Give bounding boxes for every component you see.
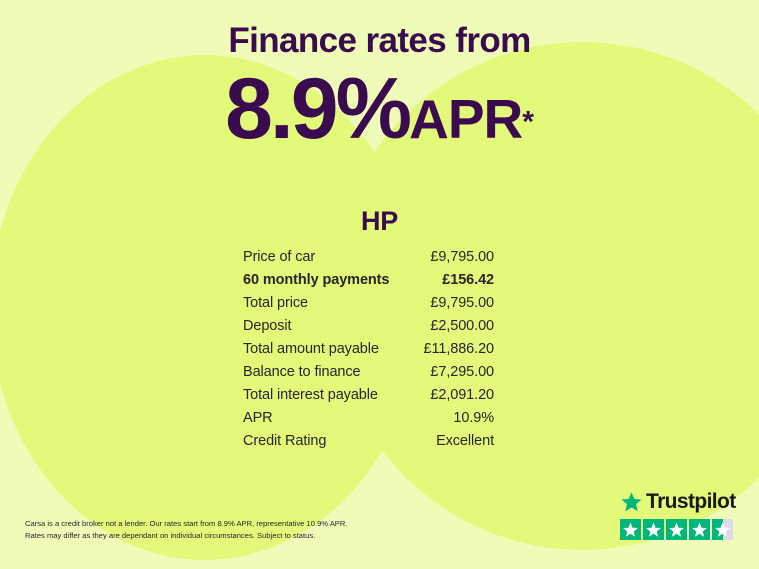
row-value: £7,295.00 [430,364,494,380]
trustpilot-star-rating [620,519,738,540]
row-label: Credit Rating [243,433,326,449]
row-value: £156.42 [442,272,494,288]
table-row: Credit RatingExcellent [243,433,494,456]
disclaimer-line-1: Carsa is a credit broker not a lender. O… [25,518,425,530]
row-label: Price of car [243,249,315,265]
row-value: £2,500.00 [430,318,494,334]
headline-rate: 8.9%APR* [0,66,759,152]
row-value: £11,886.20 [424,341,495,357]
row-value: £9,795.00 [430,249,494,265]
trustpilot-star-icon [620,491,643,513]
row-label: APR [243,410,273,426]
promo-banner: Finance rates from 8.9%APR* HP Price of … [0,0,759,569]
rating-star-5-half [712,519,733,540]
row-value: £2,091.20 [430,387,494,403]
row-label: Balance to finance [243,364,361,380]
row-value: £9,795.00 [430,295,494,311]
table-row: 60 monthly payments£156.42 [243,272,494,295]
disclaimer-line-2: Rates may differ as they are dependant o… [25,530,425,542]
finance-plan-title: HP [0,206,759,237]
trustpilot-wordmark: Trustpilot [646,490,736,514]
row-label: 60 monthly payments [243,272,389,288]
table-row: Total price£9,795.00 [243,295,494,318]
page-title: Finance rates from [0,21,759,61]
row-label: Deposit [243,318,291,334]
table-row: Total amount payable£11,886.20 [243,341,494,364]
row-value: Excellent [436,433,494,449]
rating-star-4 [689,519,710,540]
table-row: Balance to finance£7,295.00 [243,364,494,387]
row-value: 10.9% [453,410,494,426]
rating-star-2 [643,519,664,540]
rate-unit: APR [409,88,522,150]
row-label: Total price [243,295,308,311]
trustpilot-rating[interactable]: Trustpilot [620,490,738,540]
table-row: APR10.9% [243,410,494,433]
row-label: Total interest payable [243,387,378,403]
table-row: Deposit£2,500.00 [243,318,494,341]
asterisk-marker: * [522,106,534,139]
rating-star-3 [666,519,687,540]
table-row: Price of car£9,795.00 [243,249,494,272]
table-row: Total interest payable£2,091.20 [243,387,494,410]
disclaimer-text: Carsa is a credit broker not a lender. O… [25,518,425,542]
row-label: Total amount payable [243,341,379,357]
rating-star-1 [620,519,641,540]
finance-breakdown-table: Price of car£9,795.00 60 monthly payment… [243,249,494,456]
rate-number: 8.9% [225,61,409,157]
trustpilot-logo: Trustpilot [620,490,738,514]
